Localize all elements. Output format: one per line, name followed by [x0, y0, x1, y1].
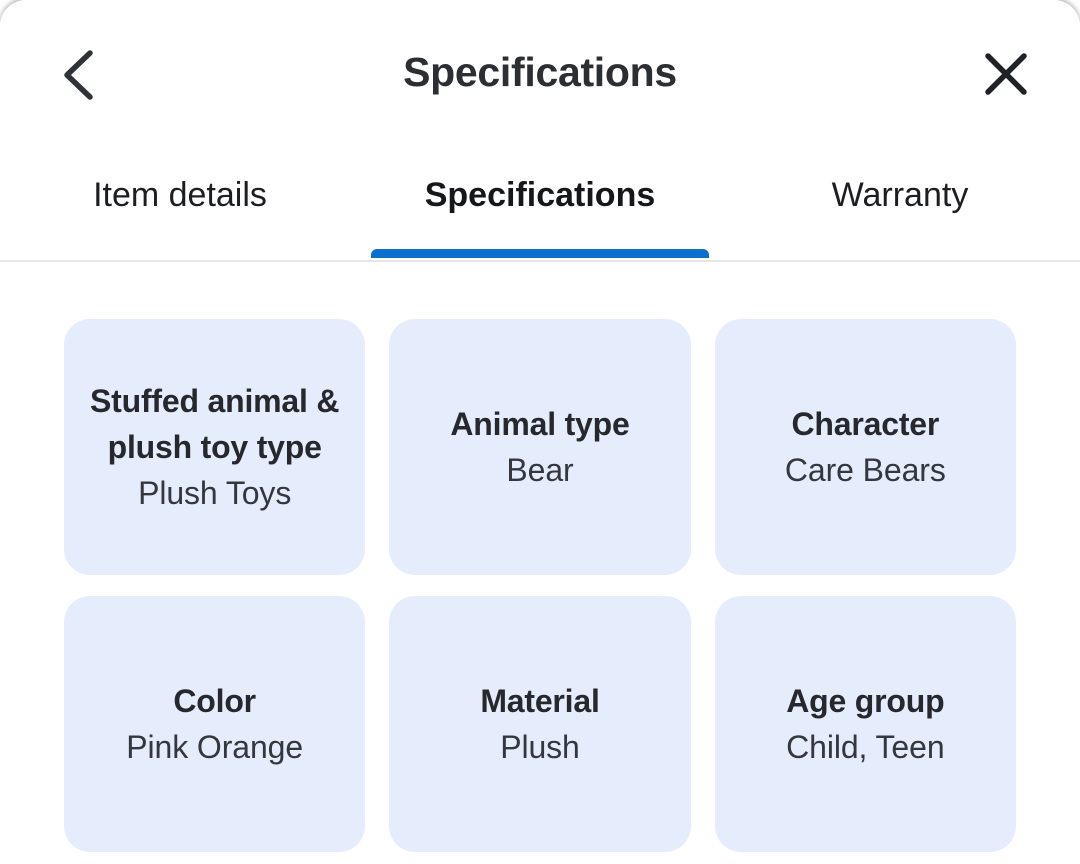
- tab-indicator-active: [371, 249, 709, 258]
- close-button[interactable]: [970, 42, 1042, 110]
- tab-label: Warranty: [832, 174, 969, 216]
- spec-card[interactable]: Material Plush: [389, 596, 690, 852]
- tab-indicator: [731, 249, 1069, 258]
- spec-card[interactable]: Animal type Bear: [389, 319, 690, 575]
- spec-value: Child, Teen: [786, 724, 944, 770]
- spec-label: Character: [792, 401, 940, 447]
- spec-value: Care Bears: [785, 447, 946, 493]
- tab-specifications[interactable]: Specifications: [360, 148, 720, 258]
- spec-card[interactable]: Character Care Bears: [715, 319, 1016, 575]
- tab-warranty[interactable]: Warranty: [720, 148, 1080, 258]
- tab-indicator: [11, 249, 349, 258]
- tab-label: Item details: [93, 174, 267, 216]
- tab-label: Specifications: [425, 174, 656, 216]
- spec-label: Age group: [786, 678, 944, 724]
- spec-value: Plush: [500, 724, 580, 770]
- spec-label: Animal type: [450, 401, 629, 447]
- spec-label: Material: [480, 678, 599, 724]
- spec-label: Color: [173, 678, 256, 724]
- spec-card[interactable]: Color Pink Orange: [64, 596, 365, 852]
- page-title: Specifications: [0, 44, 1080, 100]
- sheet-header: Specifications: [0, 0, 1080, 148]
- spec-label: Stuffed animal & plush toy type: [80, 378, 349, 470]
- spec-value: Bear: [506, 447, 573, 493]
- spec-card[interactable]: Age group Child, Teen: [715, 596, 1016, 852]
- spec-value: Plush Toys: [138, 470, 291, 516]
- spec-value: Pink Orange: [126, 724, 303, 770]
- tab-bar: Item details Specifications Warranty: [0, 148, 1080, 262]
- spec-card[interactable]: Stuffed animal & plush toy type Plush To…: [64, 319, 365, 575]
- specifications-grid: Stuffed animal & plush toy type Plush To…: [0, 262, 1080, 852]
- tab-item-details[interactable]: Item details: [0, 148, 360, 258]
- specifications-sheet: Specifications Item details Specificatio…: [0, 0, 1080, 864]
- close-icon: [983, 51, 1029, 102]
